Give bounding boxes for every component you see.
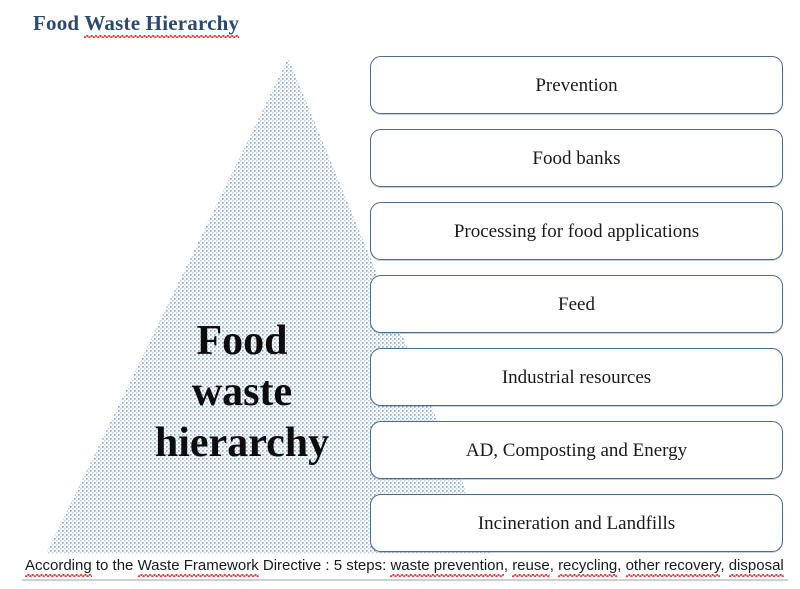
footer-seg-8: , xyxy=(550,557,558,574)
footer-seg-7: reuse xyxy=(512,557,550,577)
hierarchy-box-food-banks[interactable]: Food banks xyxy=(370,129,783,187)
hierarchy-box-label: Incineration and Landfills xyxy=(478,514,675,533)
slide-canvas: Food Waste Hierarchy Food waste hierarch… xyxy=(0,0,800,589)
hierarchy-box-industrial-resources[interactable]: Industrial resources xyxy=(370,348,783,406)
hierarchy-box-label: AD, Composting and Energy xyxy=(466,441,687,460)
footer-seg-11: other recovery xyxy=(626,557,721,577)
page-title: Food Waste Hierarchy xyxy=(33,11,239,36)
hierarchy-box-feed[interactable]: Feed xyxy=(370,275,783,333)
footer-seg-1: According xyxy=(25,557,92,577)
footer-seg-2: to the xyxy=(92,557,138,574)
footer-caption: According to the Waste Framework Directi… xyxy=(25,557,784,574)
pyramid-label-line-3: hierarchy xyxy=(108,418,376,469)
footer-seg-4: Directive : 5 steps: xyxy=(259,557,391,574)
page-title-plain: Food xyxy=(33,11,84,35)
footer-seg-6: , xyxy=(504,557,512,574)
hierarchy-box-ad-composting-and-energy[interactable]: AD, Composting and Energy xyxy=(370,421,783,479)
pyramid-label-line-1: Food xyxy=(108,316,376,367)
footer-seg-3: Waste Framework xyxy=(138,557,259,577)
footer-seg-9: recycling xyxy=(558,557,617,577)
footer-divider xyxy=(22,579,788,581)
pyramid-label-line-2: waste xyxy=(108,367,376,418)
footer-seg-5: waste prevention xyxy=(390,557,503,577)
hierarchy-box-label: Industrial resources xyxy=(502,368,651,387)
footer-seg-12: , xyxy=(720,557,728,574)
footer-seg-10: , xyxy=(617,557,625,574)
hierarchy-box-list: Prevention Food banks Processing for foo… xyxy=(370,56,783,552)
hierarchy-box-label: Prevention xyxy=(535,76,617,95)
footer-seg-13: disposal xyxy=(729,557,784,577)
hierarchy-box-incineration-and-landfills[interactable]: Incineration and Landfills xyxy=(370,494,783,552)
page-title-misspelled: Waste Hierarchy xyxy=(84,11,239,38)
hierarchy-box-prevention[interactable]: Prevention xyxy=(370,56,783,114)
hierarchy-box-processing-for-food-applications[interactable]: Processing for food applications xyxy=(370,202,783,260)
hierarchy-box-label: Processing for food applications xyxy=(454,222,699,241)
pyramid-label: Food waste hierarchy xyxy=(108,316,376,469)
hierarchy-box-label: Food banks xyxy=(532,149,620,168)
hierarchy-box-label: Feed xyxy=(558,295,595,314)
